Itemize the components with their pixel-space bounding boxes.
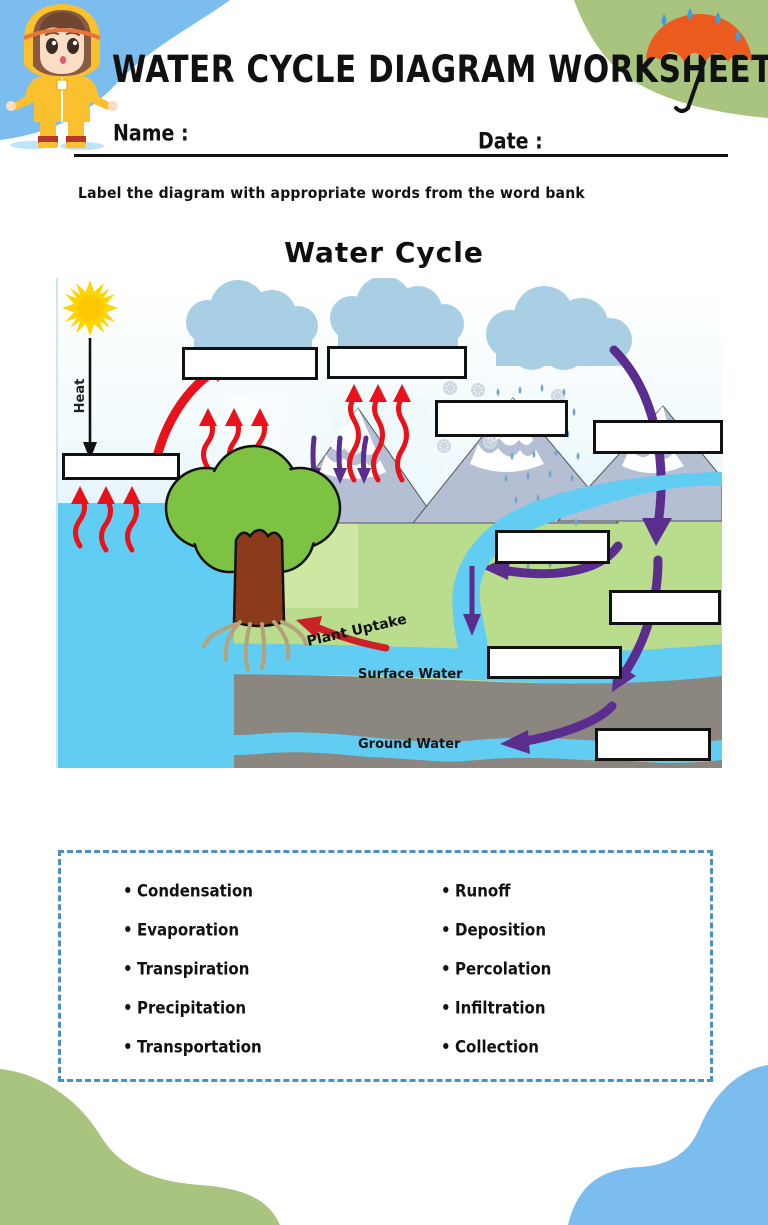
bullet-icon: •: [441, 920, 455, 940]
word-bank-item[interactable]: •Infiltration: [441, 998, 551, 1018]
word-bank: •Condensation •Evaporation •Transpiratio…: [58, 850, 713, 1082]
answer-box-deposition[interactable]: [435, 400, 568, 437]
word-bank-label: Deposition: [455, 920, 546, 940]
word-bank-label: Runoff: [455, 881, 510, 901]
word-bank-label: Condensation: [137, 881, 253, 901]
water-cycle-diagram: Heat: [56, 278, 724, 768]
name-field-label: Name :: [113, 121, 189, 146]
bullet-icon: •: [123, 998, 137, 1018]
bullet-icon: •: [441, 959, 455, 979]
diagram-title: Water Cycle: [0, 236, 768, 269]
bullet-icon: •: [441, 881, 455, 901]
name-date-rule: [74, 154, 728, 157]
word-bank-label: Collection: [455, 1037, 539, 1057]
bullet-icon: •: [123, 881, 137, 901]
word-bank-label: Transpiration: [137, 959, 249, 979]
heat-label: Heat: [73, 379, 88, 414]
bullet-icon: •: [441, 1037, 455, 1057]
girl-in-raincoat-icon: [2, 4, 122, 154]
bullet-icon: •: [123, 1037, 137, 1057]
word-bank-item[interactable]: •Percolation: [441, 959, 551, 979]
answer-box-transpiration[interactable]: [182, 347, 318, 380]
word-bank-item[interactable]: •Collection: [441, 1037, 551, 1057]
word-bank-label: Percolation: [455, 959, 551, 979]
word-bank-item[interactable]: •Evaporation: [123, 920, 262, 940]
answer-box-infiltration[interactable]: [609, 590, 721, 625]
bullet-icon: •: [123, 959, 137, 979]
word-bank-label: Evaporation: [137, 920, 239, 940]
word-bank-label: Transportation: [137, 1037, 262, 1057]
sun-icon: [62, 280, 118, 336]
instruction-text: Label the diagram with appropriate words…: [78, 185, 585, 203]
word-bank-item[interactable]: •Precipitation: [123, 998, 262, 1018]
answer-box-runoff[interactable]: [495, 530, 610, 564]
word-bank-item[interactable]: •Deposition: [441, 920, 551, 940]
bullet-icon: •: [441, 998, 455, 1018]
answer-box-condensation[interactable]: [327, 346, 467, 379]
answer-box-precipitation[interactable]: [593, 420, 723, 454]
answer-box-ocean-evaporation[interactable]: [62, 453, 180, 480]
answer-box-collection[interactable]: [487, 646, 622, 679]
word-bank-item[interactable]: •Condensation: [123, 881, 262, 901]
word-bank-item[interactable]: •Transpiration: [123, 959, 262, 979]
word-bank-label: Infiltration: [455, 998, 546, 1018]
word-bank-item[interactable]: •Transportation: [123, 1037, 262, 1057]
word-bank-item[interactable]: •Runoff: [441, 881, 551, 901]
bullet-icon: •: [123, 920, 137, 940]
worksheet-title: WATER CYCLE DIAGRAM WORKSHEETS: [112, 48, 712, 111]
answer-box-percolation[interactable]: [595, 728, 711, 761]
umbrella-icon: [638, 8, 758, 118]
word-bank-label: Precipitation: [137, 998, 246, 1018]
word-bank-right-column: •Runoff •Deposition •Percolation •Infilt…: [441, 881, 551, 1076]
ground-water-label: Ground Water: [358, 737, 461, 752]
date-field-label: Date :: [478, 129, 543, 154]
worksheet-page: WATER CYCLE DIAGRAM WORKSHEETS Name : Da…: [0, 0, 768, 1225]
word-bank-left-column: •Condensation •Evaporation •Transpiratio…: [123, 881, 262, 1076]
surface-water-label: Surface Water: [358, 667, 463, 682]
